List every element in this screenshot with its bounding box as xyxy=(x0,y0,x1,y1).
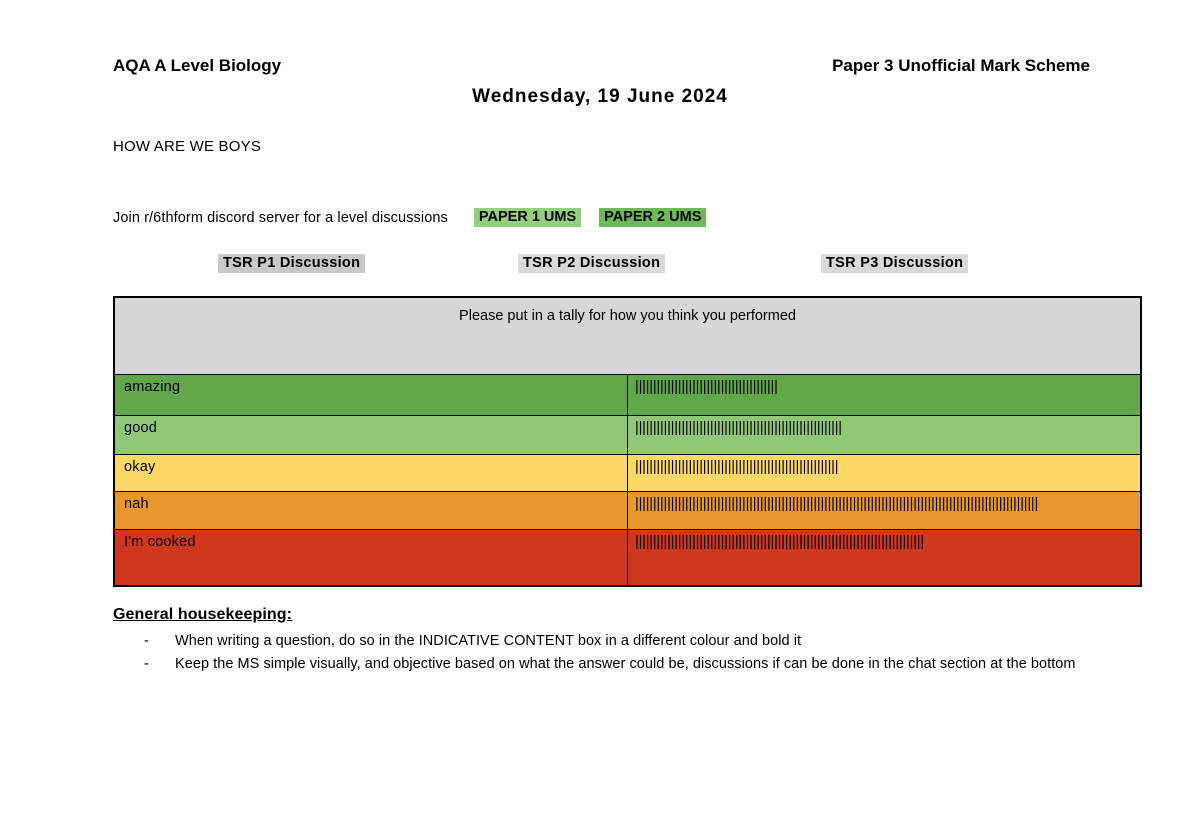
row-tally-im-cooked[interactable]: ||||||||||||||||||||||||||||||||||||||||… xyxy=(628,530,1142,587)
document-page: AQA A Level Biology Paper 3 Unofficial M… xyxy=(0,0,1200,829)
tsr-links-row: TSR P1 Discussion TSR P2 Discussion TSR … xyxy=(113,254,1090,274)
table-row[interactable]: I'm cooked |||||||||||||||||||||||||||||… xyxy=(114,530,1141,587)
row-tally-amazing[interactable]: |||||||||||||||||||||||||||||||||||||||| xyxy=(628,375,1142,416)
list-item: - Keep the MS simple visually, and objec… xyxy=(113,653,1103,676)
housekeeping-list: - When writing a question, do so in the … xyxy=(113,630,1103,676)
page-title: AQA A Level Biology xyxy=(113,56,281,76)
table-row[interactable]: okay |||||||||||||||||||||||||||||||||||… xyxy=(114,455,1141,492)
row-label-im-cooked: I'm cooked xyxy=(114,530,628,587)
greeting-text: HOW ARE WE BOYS xyxy=(113,138,261,155)
bullet-dash-icon: - xyxy=(144,653,149,676)
table-row[interactable]: nah ||||||||||||||||||||||||||||||||||||… xyxy=(114,492,1141,530)
row-label-amazing: amazing xyxy=(114,375,628,416)
link-tsr-p2-discussion[interactable]: TSR P2 Discussion xyxy=(518,254,665,273)
housekeeping-item-text: When writing a question, do so in the IN… xyxy=(175,633,801,649)
general-housekeeping-section: General housekeeping: - When writing a q… xyxy=(113,606,1103,676)
document-header: AQA A Level Biology Paper 3 Unofficial M… xyxy=(113,56,1090,76)
link-tsr-p3-discussion[interactable]: TSR P3 Discussion xyxy=(821,254,968,273)
discord-join-text: Join r/6thform discord server for a leve… xyxy=(113,210,448,226)
table-row[interactable]: amazing ||||||||||||||||||||||||||||||||… xyxy=(114,375,1141,416)
link-paper-1-ums[interactable]: PAPER 1 UMS xyxy=(474,208,581,227)
bullet-dash-icon: - xyxy=(144,630,149,653)
housekeeping-title: General housekeeping: xyxy=(113,606,1103,624)
list-item: - When writing a question, do so in the … xyxy=(113,630,1103,653)
paper-subtitle: Paper 3 Unofficial Mark Scheme xyxy=(832,56,1090,76)
row-label-good: good xyxy=(114,416,628,455)
table-header-row: Please put in a tally for how you think … xyxy=(114,297,1141,375)
link-tsr-p1-discussion[interactable]: TSR P1 Discussion xyxy=(218,254,365,273)
row-tally-nah[interactable]: ||||||||||||||||||||||||||||||||||||||||… xyxy=(628,492,1142,530)
table-row[interactable]: good |||||||||||||||||||||||||||||||||||… xyxy=(114,416,1141,455)
row-tally-good[interactable]: ||||||||||||||||||||||||||||||||||||||||… xyxy=(628,416,1142,455)
tally-table[interactable]: Please put in a tally for how you think … xyxy=(113,296,1142,587)
tally-table-header-cell: Please put in a tally for how you think … xyxy=(114,297,1141,375)
row-label-nah: nah xyxy=(114,492,628,530)
discord-links-row: Join r/6thform discord server for a leve… xyxy=(113,208,706,227)
exam-date: Wednesday, 19 June 2024 xyxy=(0,86,1200,108)
link-paper-2-ums[interactable]: PAPER 2 UMS xyxy=(599,208,706,227)
row-tally-okay[interactable]: ||||||||||||||||||||||||||||||||||||||||… xyxy=(628,455,1142,492)
row-label-okay: okay xyxy=(114,455,628,492)
housekeeping-item-text: Keep the MS simple visually, and objecti… xyxy=(175,656,1076,672)
